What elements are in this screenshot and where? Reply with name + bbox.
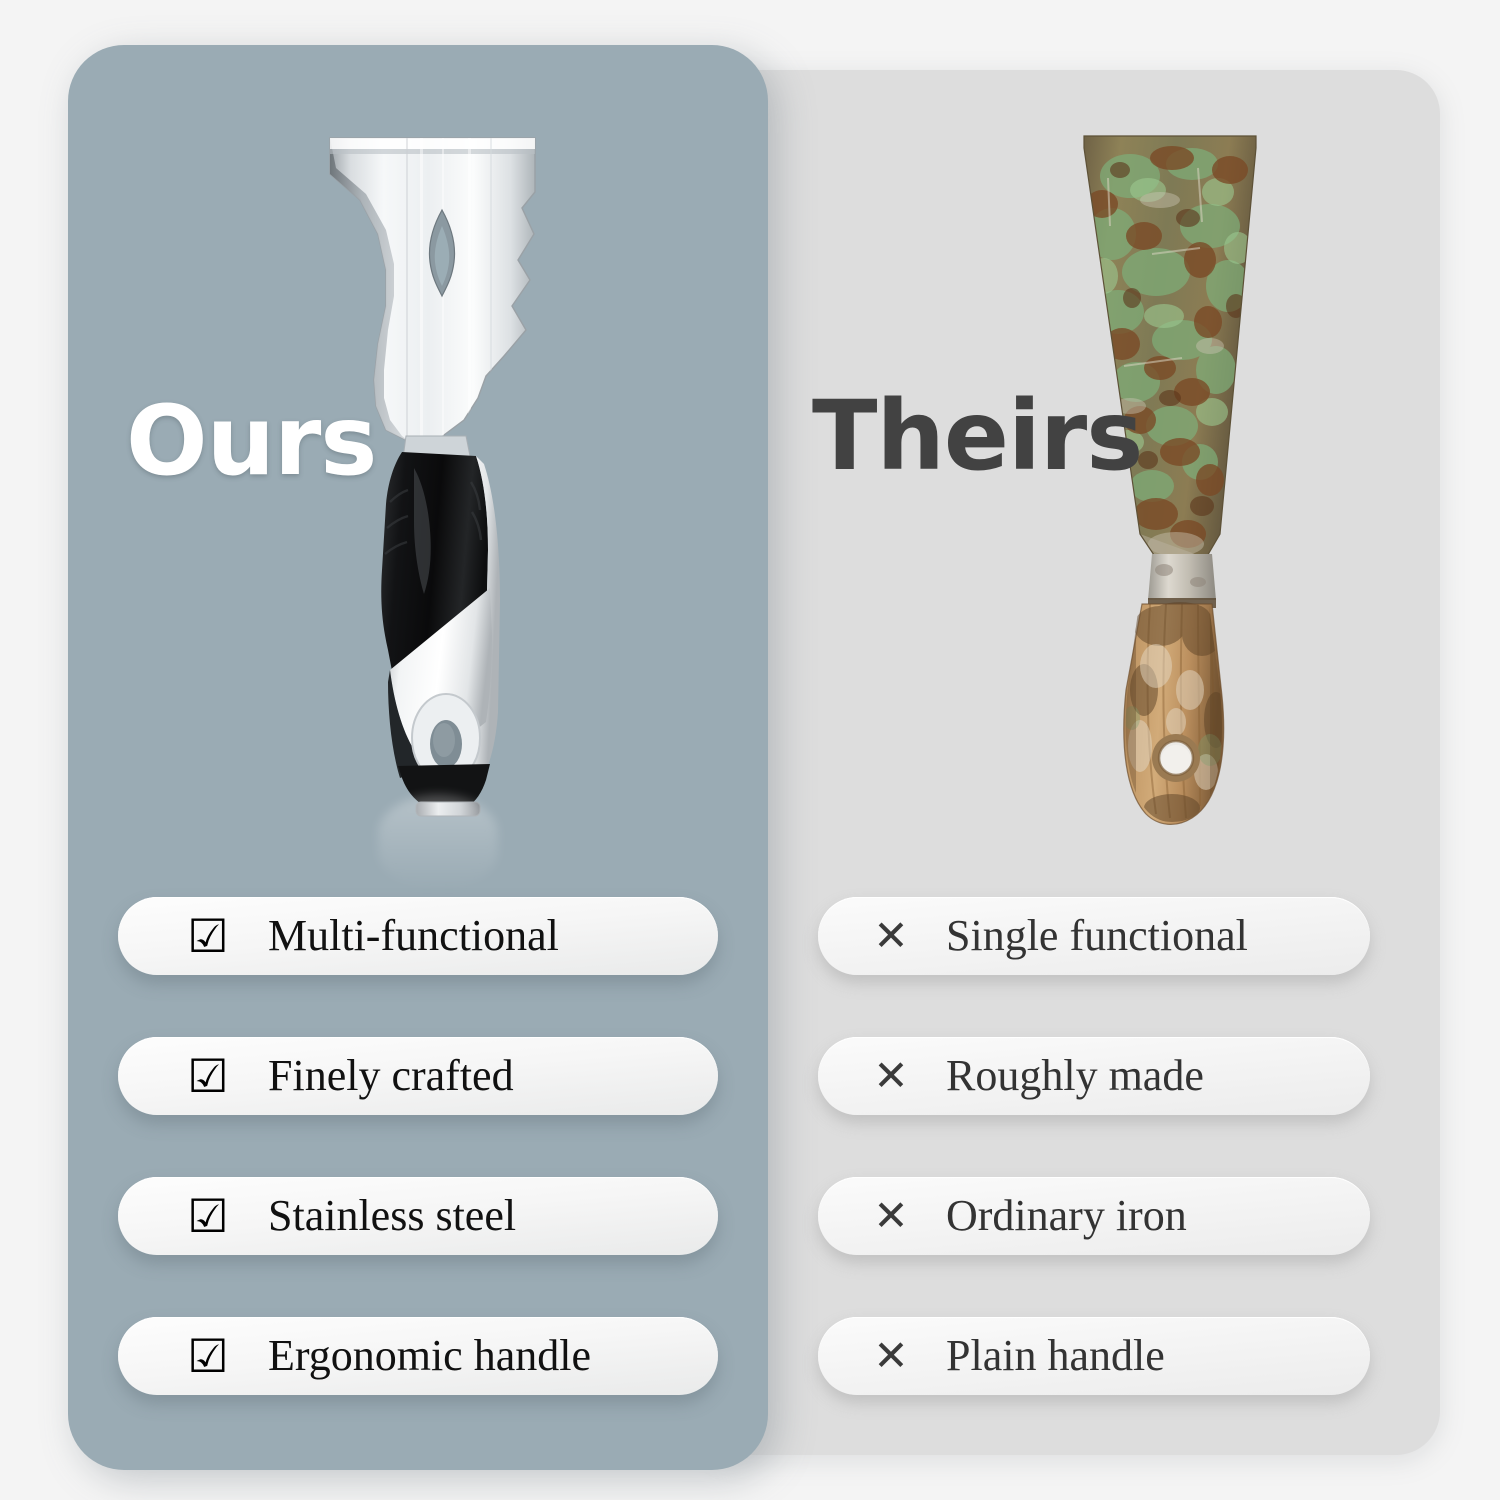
cross-icon: ✕: [836, 915, 946, 957]
feature-label: Single functional: [946, 914, 1248, 958]
feature-pill-ours-1[interactable]: ☑ Multi-functional: [118, 897, 718, 975]
feature-pill-theirs-1[interactable]: ✕ Single functional: [818, 897, 1370, 975]
feature-pill-ours-3[interactable]: ☑ Stainless steel: [118, 1177, 718, 1255]
checkbox-checked-icon: ☑: [148, 1193, 268, 1239]
feature-pill-theirs-3[interactable]: ✕ Ordinary iron: [818, 1177, 1370, 1255]
checkbox-checked-icon: ☑: [148, 913, 268, 959]
page-title-ours: Ours: [126, 393, 376, 489]
feature-label: Stainless steel: [268, 1194, 516, 1238]
feature-pill-ours-2[interactable]: ☑ Finely crafted: [118, 1037, 718, 1115]
feature-label: Ordinary iron: [946, 1194, 1187, 1238]
checkbox-checked-icon: ☑: [148, 1333, 268, 1379]
page-title-theirs: Theirs: [812, 388, 1142, 484]
cross-icon: ✕: [836, 1195, 946, 1237]
feature-label: Finely crafted: [268, 1054, 514, 1098]
feature-label: Ergonomic handle: [268, 1334, 591, 1378]
cross-icon: ✕: [836, 1335, 946, 1377]
tool-reflection: [378, 795, 498, 890]
checkbox-checked-icon: ☑: [148, 1053, 268, 1099]
feature-pill-ours-4[interactable]: ☑ Ergonomic handle: [118, 1317, 718, 1395]
cross-icon: ✕: [836, 1055, 946, 1097]
feature-label: Roughly made: [946, 1054, 1204, 1098]
comparison-infographic: Ours Theirs ☑ Multi-functional ☑ Finely …: [0, 0, 1500, 1500]
feature-label: Multi-functional: [268, 914, 559, 958]
feature-label: Plain handle: [946, 1334, 1165, 1378]
feature-pill-theirs-4[interactable]: ✕ Plain handle: [818, 1317, 1370, 1395]
feature-pill-theirs-2[interactable]: ✕ Roughly made: [818, 1037, 1370, 1115]
